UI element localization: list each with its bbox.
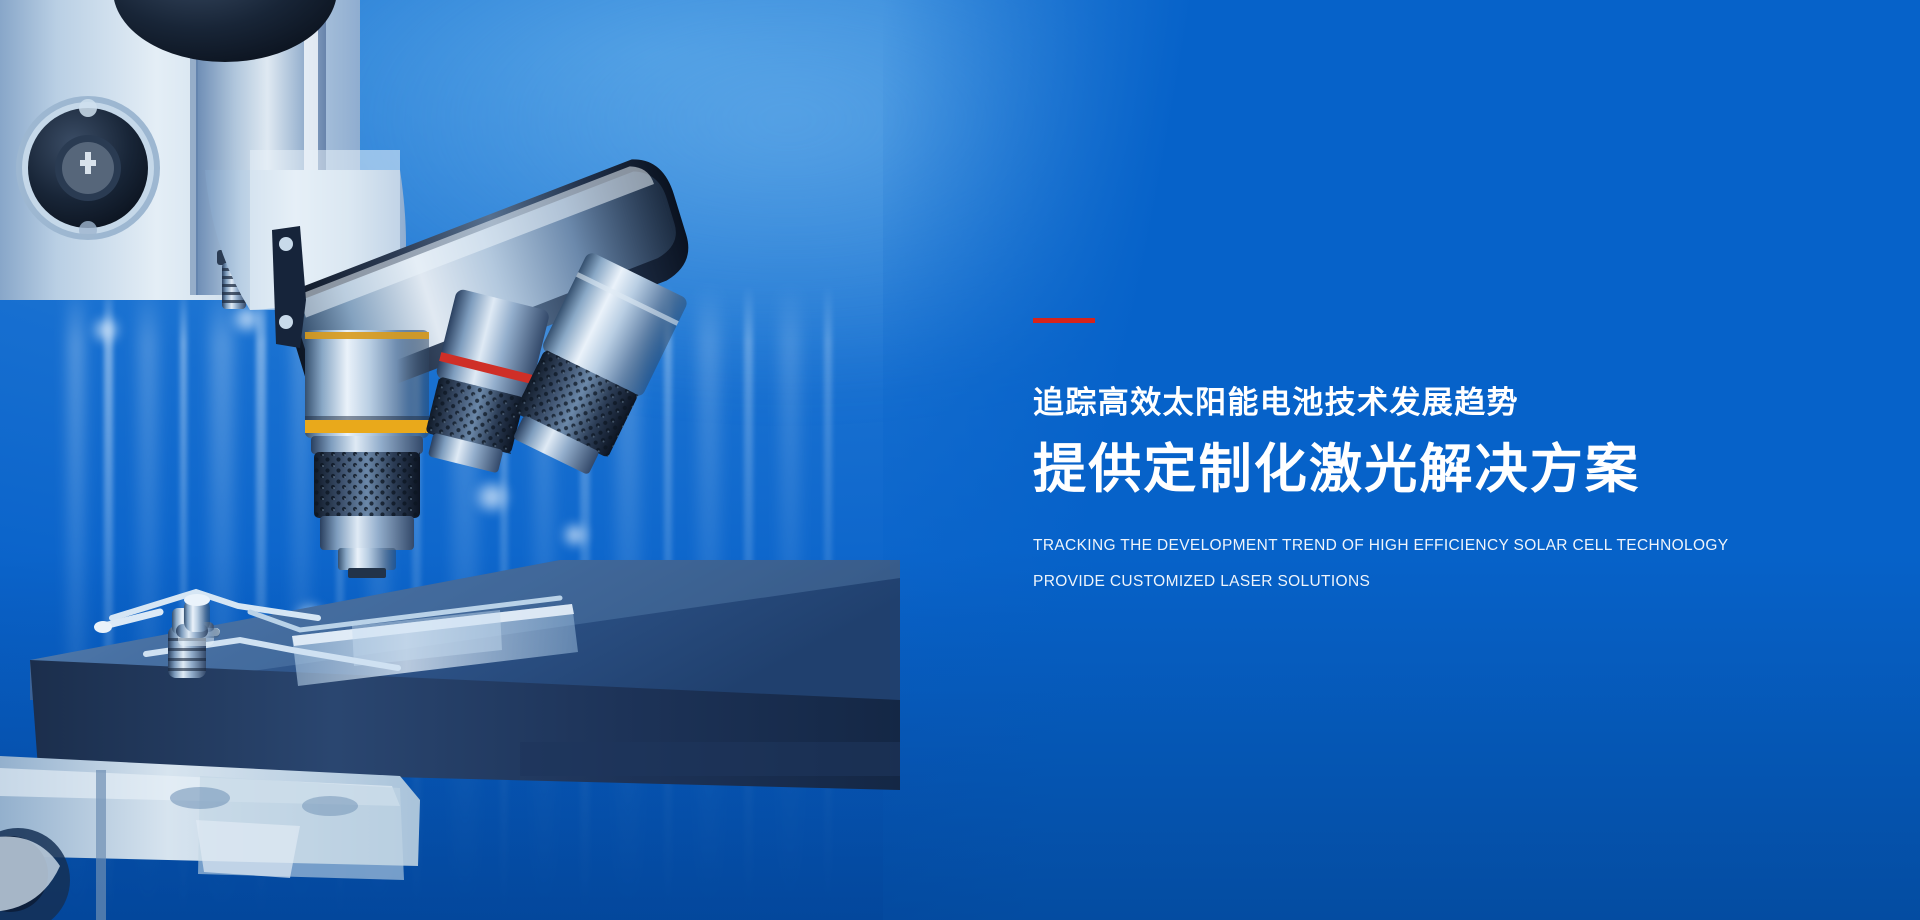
- microscope-illustration: [0, 0, 900, 920]
- accent-rule: [1033, 318, 1095, 323]
- hero-banner: 追踪高效太阳能电池技术发展趋势 提供定制化激光解决方案 TRACKING THE…: [0, 0, 1920, 920]
- hero-kicker: 追踪高效太阳能电池技术发展趋势: [1033, 386, 1873, 420]
- hero-english-block: TRACKING THE DEVELOPMENT TREND OF HIGH E…: [1033, 538, 1873, 590]
- hero-headline: 提供定制化激光解决方案: [1033, 439, 1873, 502]
- hero-content: 追踪高效太阳能电池技术发展趋势 提供定制化激光解决方案 TRACKING THE…: [1033, 318, 1873, 590]
- hero-english-line-2: PROVIDE CUSTOMIZED LASER SOLUTIONS: [1033, 574, 1873, 590]
- hero-english-line-1: TRACKING THE DEVELOPMENT TREND OF HIGH E…: [1033, 538, 1873, 554]
